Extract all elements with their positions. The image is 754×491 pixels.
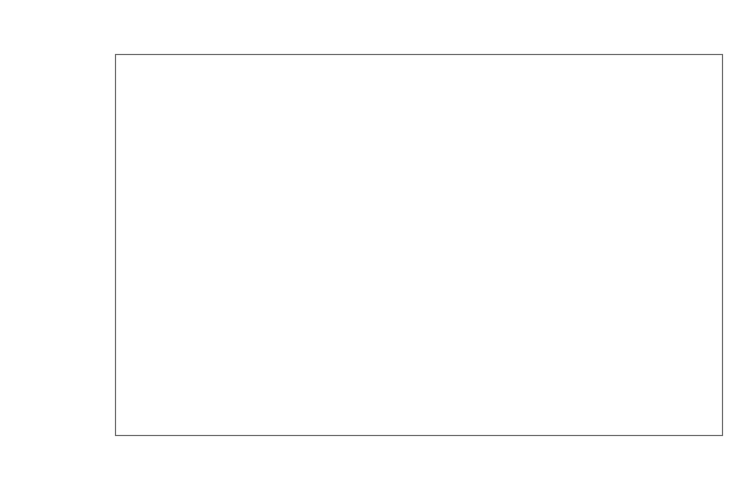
chart-container xyxy=(0,0,754,491)
photosynthesis-area-chart xyxy=(0,0,754,491)
chart-background xyxy=(0,0,754,491)
